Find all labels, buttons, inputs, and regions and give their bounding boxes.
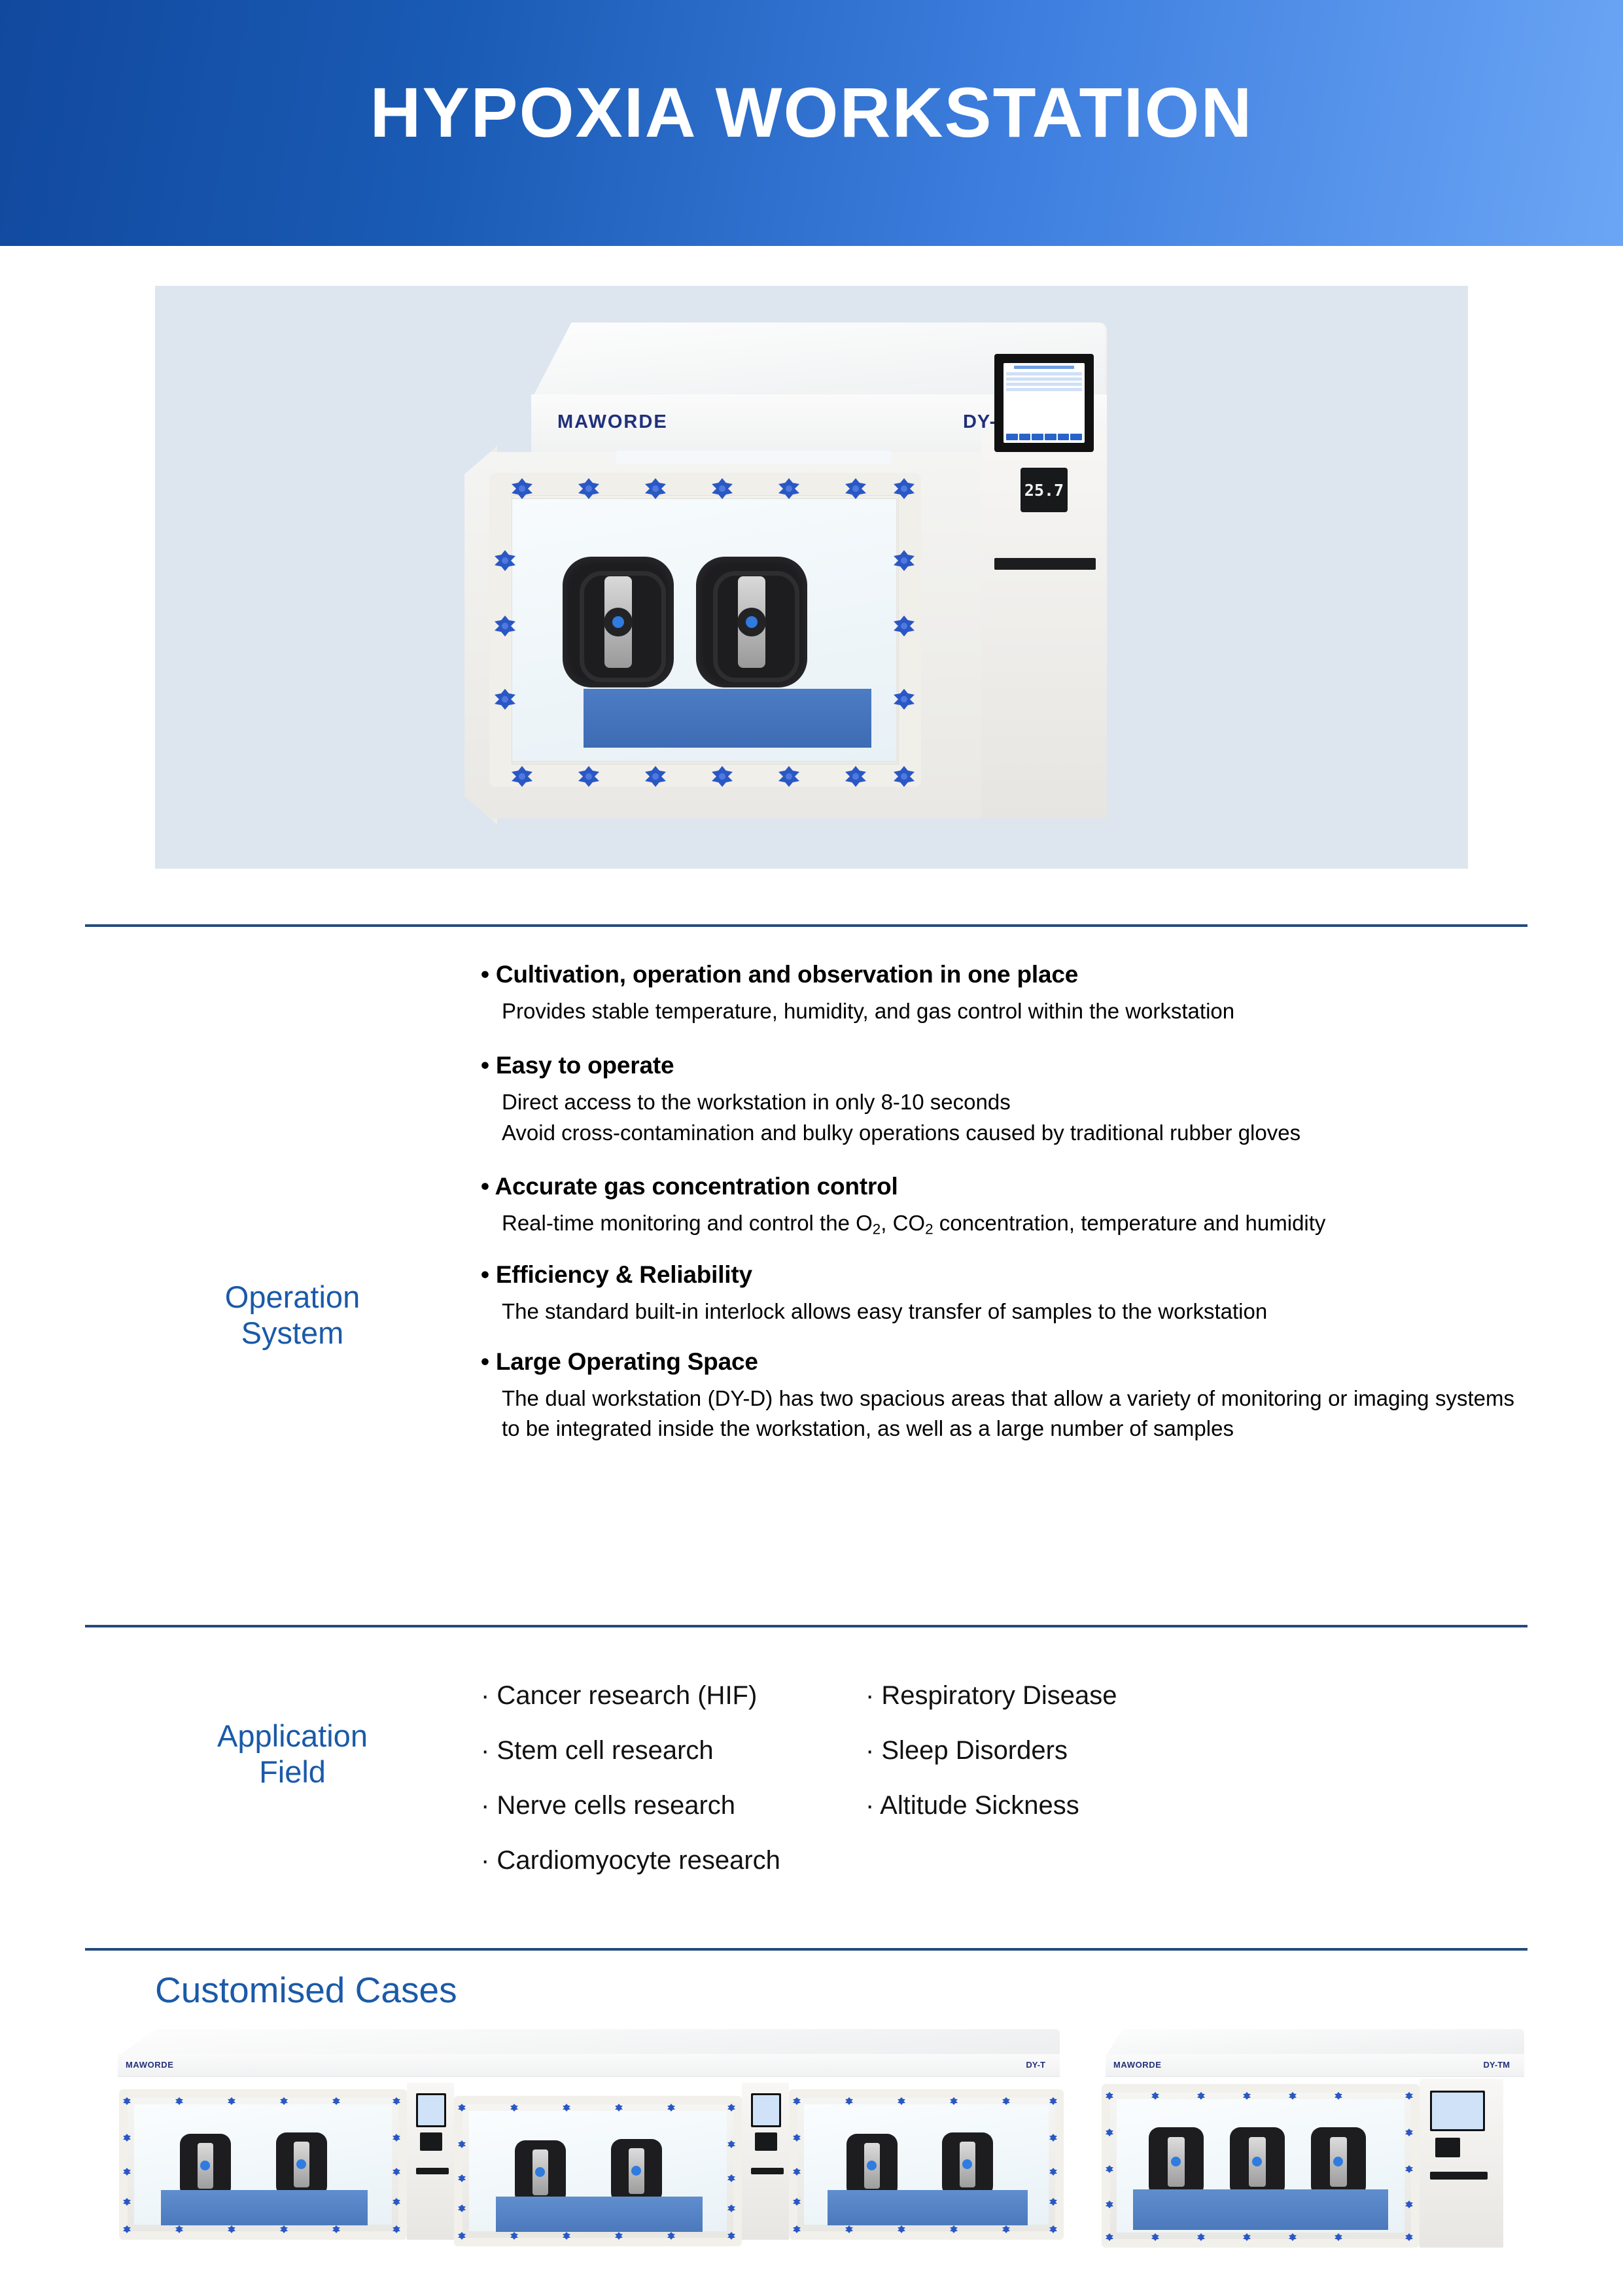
feature-title: • Large Operating Space	[481, 1346, 1527, 1378]
screen-button[interactable]	[1070, 434, 1082, 440]
feature-item: • Cultivation, operation and observation…	[481, 958, 1527, 1027]
feature-item: • Large Operating Space The dual worksta…	[481, 1346, 1527, 1445]
screen-button[interactable]	[1058, 434, 1070, 440]
digital-display	[755, 2132, 777, 2151]
glove-port-hub	[604, 608, 633, 636]
touchscreen-control-panel[interactable]	[1430, 2091, 1485, 2131]
blue-work-tray	[161, 2190, 368, 2225]
feature-title: • Cultivation, operation and observation…	[481, 958, 1527, 991]
section-divider	[85, 1948, 1527, 1951]
drawer-handle[interactable]	[416, 2168, 449, 2174]
screen-title-line	[1014, 366, 1075, 369]
feature-item: • Efficiency & Reliability The standard …	[481, 1259, 1527, 1327]
unit-brand-bar: MAWORDE DY-TM	[1106, 2054, 1524, 2077]
application-item: · Stem cell research	[481, 1736, 780, 1765]
glove-port-hub	[296, 2159, 306, 2169]
glove-port-hub	[737, 608, 766, 636]
glove-port-hub	[200, 2161, 210, 2170]
operation-system-feature-list: • Cultivation, operation and observation…	[481, 958, 1527, 1463]
touchscreen-control-panel[interactable]	[994, 354, 1094, 452]
section-divider	[85, 1625, 1527, 1627]
screen-button[interactable]	[1032, 434, 1043, 440]
case-model-label: DY-T	[1026, 2060, 1045, 2070]
section-label-application-field: Application Field	[155, 1718, 430, 1790]
feature-title: • Efficiency & Reliability	[481, 1259, 1527, 1291]
application-column-left: · Cancer research (HIF) · Stem cell rese…	[481, 1681, 780, 1875]
feature-description: Direct access to the workstation in only…	[481, 1087, 1527, 1149]
application-column-right: · Respiratory Disease · Sleep Disorders …	[865, 1681, 1117, 1875]
glove-port-hub	[962, 2159, 972, 2169]
touchscreen-display	[1003, 363, 1085, 443]
feature-description: The standard built-in interlock allows e…	[481, 1296, 1527, 1327]
section-divider	[85, 924, 1527, 927]
feature-item: • Accurate gas concentration control Rea…	[481, 1170, 1527, 1240]
screen-row	[1006, 377, 1082, 381]
blue-work-tray	[828, 2190, 1028, 2225]
screen-button[interactable]	[1045, 434, 1056, 440]
case-model-label: DY-TM	[1484, 2060, 1510, 2070]
application-list-left: · Cancer research (HIF) · Stem cell rese…	[481, 1681, 780, 1875]
application-item: · Cancer research (HIF)	[481, 1681, 780, 1711]
application-item: · Cardiomyocyte research	[481, 1846, 780, 1875]
screen-button[interactable]	[1019, 434, 1031, 440]
drawer-handle[interactable]	[1430, 2172, 1488, 2180]
blue-work-tray	[1133, 2189, 1388, 2230]
feature-title: • Easy to operate	[481, 1049, 1527, 1082]
unit-blue-work-tray	[584, 689, 871, 748]
glove-port-hub	[867, 2161, 877, 2170]
application-item: · Altitude Sickness	[865, 1791, 1117, 1820]
customised-cases-title: Customised Cases	[155, 1969, 457, 2011]
drawer-handle[interactable]	[751, 2168, 784, 2174]
feature-description: Provides stable temperature, humidity, a…	[481, 996, 1527, 1027]
touchscreen-control-panel[interactable]	[751, 2093, 781, 2127]
screen-button[interactable]	[1006, 434, 1018, 440]
case-brand-label: MAWORDE	[126, 2060, 174, 2070]
glove-port	[563, 557, 674, 687]
glove-port-hub	[1333, 2157, 1343, 2166]
screen-row	[1006, 388, 1082, 391]
case-image-dy-tm: MAWORDE DY-TM	[1092, 2021, 1544, 2283]
glove-port-hub	[535, 2167, 545, 2177]
feature-description-line: Avoid cross-contamination and bulky oper…	[502, 1118, 1527, 1149]
page-title: HYPOXIA WORKSTATION	[0, 77, 1623, 148]
unit-dy-t: MAWORDE DY-T	[105, 2029, 1086, 2291]
page-header-banner: HYPOXIA WORKSTATION	[0, 0, 1623, 246]
unit-top-slab	[1106, 2029, 1524, 2057]
unit-light-strip	[616, 451, 891, 464]
hero-product-image-panel: MAWORDE DY-L	[155, 286, 1468, 869]
digital-display	[420, 2132, 442, 2151]
application-item: · Nerve cells research	[481, 1791, 780, 1820]
blue-work-tray	[496, 2197, 703, 2232]
product-brand-label: MAWORDE	[557, 411, 668, 433]
glove-port	[696, 557, 807, 687]
application-list-right: · Respiratory Disease · Sleep Disorders …	[865, 1681, 1117, 1820]
glove-port-hub	[631, 2166, 641, 2176]
application-item: · Sleep Disorders	[865, 1736, 1117, 1765]
feature-description: Real-time monitoring and control the O2,…	[481, 1208, 1527, 1240]
digital-temperature-display: 25.7	[1021, 468, 1068, 512]
product-illustration-dyl: MAWORDE DY-L	[427, 322, 1205, 839]
screen-row	[1006, 372, 1082, 375]
touchscreen-control-panel[interactable]	[416, 2093, 446, 2127]
feature-description-line: Direct access to the workstation in only…	[502, 1087, 1527, 1118]
case-brand-label: MAWORDE	[1113, 2060, 1162, 2070]
application-field-columns: · Cancer research (HIF) · Stem cell rese…	[481, 1681, 1527, 1875]
unit-dy-tm: MAWORDE DY-TM	[1092, 2029, 1544, 2291]
feature-item: • Easy to operate Direct access to the w…	[481, 1049, 1527, 1149]
glove-port-hub	[1171, 2157, 1181, 2166]
unit-brand-bar: MAWORDE DY-T	[118, 2054, 1060, 2077]
feature-description: The dual workstation (DY-D) has two spac…	[481, 1383, 1527, 1445]
glove-port-hub	[1252, 2157, 1262, 2166]
customised-cases-images: MAWORDE DY-T	[85, 2021, 1544, 2296]
screen-row	[1006, 383, 1082, 386]
unit-drawer-handle[interactable]	[994, 558, 1096, 570]
case-image-dy-t: MAWORDE DY-T	[105, 2021, 1086, 2283]
feature-title: • Accurate gas concentration control	[481, 1170, 1527, 1203]
screen-button-bar[interactable]	[1006, 434, 1082, 440]
section-label-operation-system: Operation System	[155, 1279, 430, 1351]
application-item: · Respiratory Disease	[865, 1681, 1117, 1711]
unit-top-slab	[118, 2029, 1060, 2057]
digital-display	[1435, 2138, 1460, 2157]
